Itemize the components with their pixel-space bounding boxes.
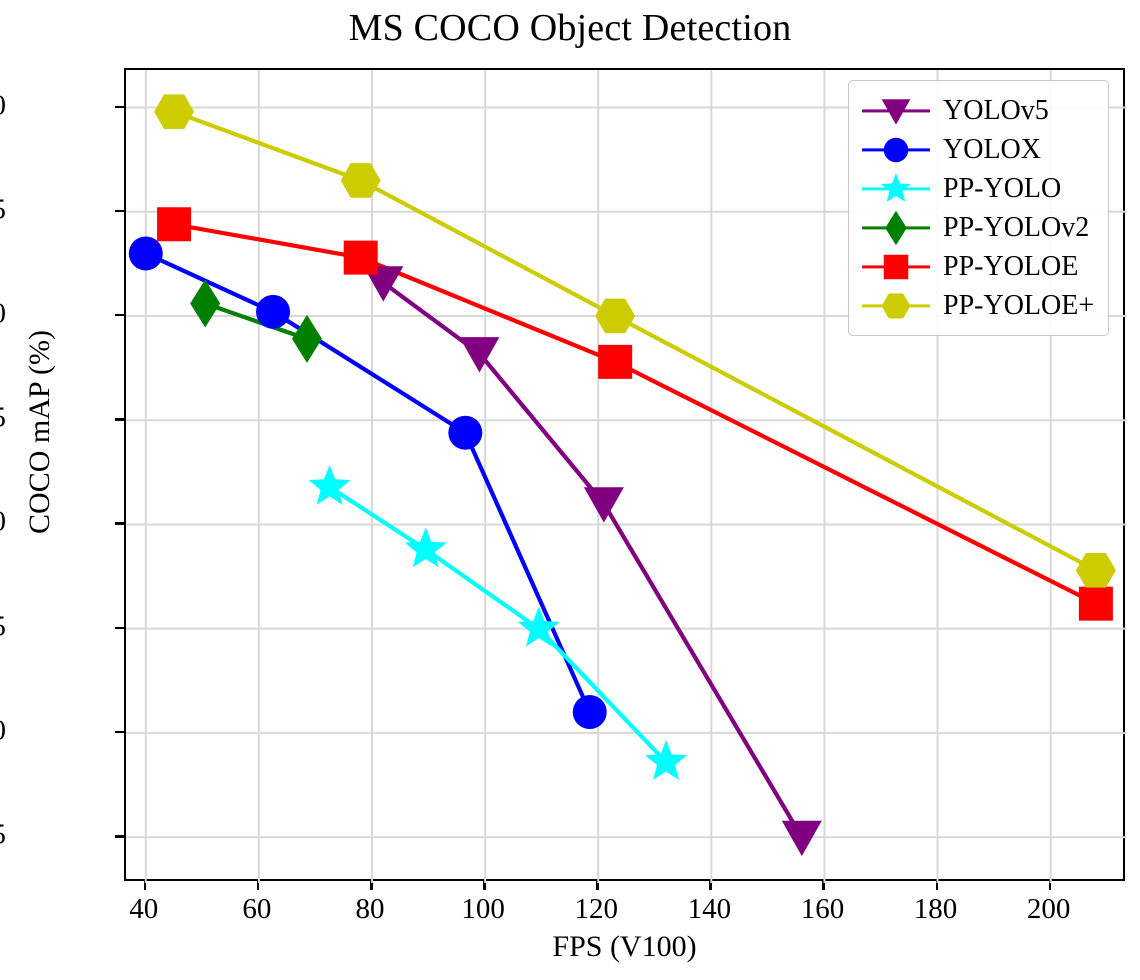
y-tick-mark — [115, 314, 124, 317]
y-axis-label: COCO mAP (%) — [23, 222, 57, 642]
legend-swatch — [859, 210, 933, 246]
x-tick-label: 40 — [129, 893, 158, 926]
data-point-yolov5-3 — [782, 821, 822, 856]
y-tick-label: 42.5 — [0, 610, 6, 643]
data-point-yolox-2 — [448, 416, 482, 450]
y-tick-label: 50.0 — [0, 297, 6, 330]
data-point-yolox-3 — [573, 695, 607, 729]
y-tick-mark — [115, 627, 124, 630]
y-tick-mark — [115, 418, 124, 421]
legend-swatch — [859, 171, 933, 207]
data-point-pp-yoloe+-3 — [1076, 553, 1116, 588]
series-line-yolov5 — [383, 283, 801, 838]
data-point-pp-yolov2-1 — [292, 315, 322, 363]
data-point-yolox-1 — [256, 295, 290, 329]
series-line-pp-yolo — [330, 487, 666, 762]
data-point-pp-yoloe+-0 — [154, 94, 194, 129]
x-tick-label: 140 — [688, 893, 732, 926]
y-tick-label: 37.5 — [0, 819, 6, 852]
x-tick-label: 120 — [574, 893, 618, 926]
data-point-pp-yoloe-0 — [157, 207, 191, 241]
legend-swatch — [859, 93, 933, 129]
legend-label: PP-YOLO — [933, 173, 1061, 205]
x-tick-label: 200 — [1027, 893, 1071, 926]
y-tick-label: 40.0 — [0, 714, 6, 747]
x-tick-label: 80 — [356, 893, 385, 926]
chart-title: MS COCO Object Detection — [0, 6, 1140, 50]
chart-figure: MS COCO Object Detection COCO mAP (%) FP… — [0, 0, 1140, 980]
legend-label: YOLOX — [933, 134, 1041, 166]
x-tick-label: 180 — [914, 893, 958, 926]
legend-label: YOLOv5 — [933, 95, 1049, 127]
data-point-pp-yoloe+-2 — [595, 299, 635, 334]
legend-label: PP-YOLOE — [933, 251, 1078, 283]
y-tick-label: 55.0 — [0, 89, 6, 122]
data-point-yolox-0 — [129, 236, 163, 270]
legend-label: PP-YOLOv2 — [933, 212, 1089, 244]
data-point-pp-yoloe-2 — [598, 345, 632, 379]
x-tick-label: 160 — [801, 893, 845, 926]
x-tick-label: 100 — [461, 893, 505, 926]
legend-label: PP-YOLOE+ — [933, 290, 1094, 322]
y-tick-mark — [115, 522, 124, 525]
data-point-pp-yoloe+-1 — [341, 163, 381, 198]
x-tick-label: 60 — [242, 893, 271, 926]
y-tick-mark — [115, 731, 124, 734]
legend-item-pp-yoloe+[interactable]: PP-YOLOE+ — [859, 286, 1094, 325]
data-point-pp-yolo-2 — [518, 607, 560, 647]
y-tick-mark — [115, 835, 124, 838]
data-point-yolov5-2 — [584, 487, 624, 522]
legend-swatch — [859, 132, 933, 168]
x-axis-label: FPS (V100) — [124, 930, 1125, 964]
y-tick-label: 45.0 — [0, 506, 6, 539]
data-point-pp-yoloe-3 — [1079, 587, 1113, 621]
legend: YOLOv5YOLOXPP-YOLOPP-YOLOv2PP-YOLOEPP-YO… — [848, 80, 1109, 336]
y-tick-mark — [115, 106, 124, 109]
legend-marker-hexagon-icon — [871, 281, 921, 331]
legend-swatch — [859, 288, 933, 324]
y-tick-label: 47.5 — [0, 402, 6, 435]
y-tick-label: 52.5 — [0, 193, 6, 226]
data-point-pp-yoloe-1 — [344, 241, 378, 275]
y-tick-mark — [115, 210, 124, 213]
legend-swatch — [859, 249, 933, 285]
